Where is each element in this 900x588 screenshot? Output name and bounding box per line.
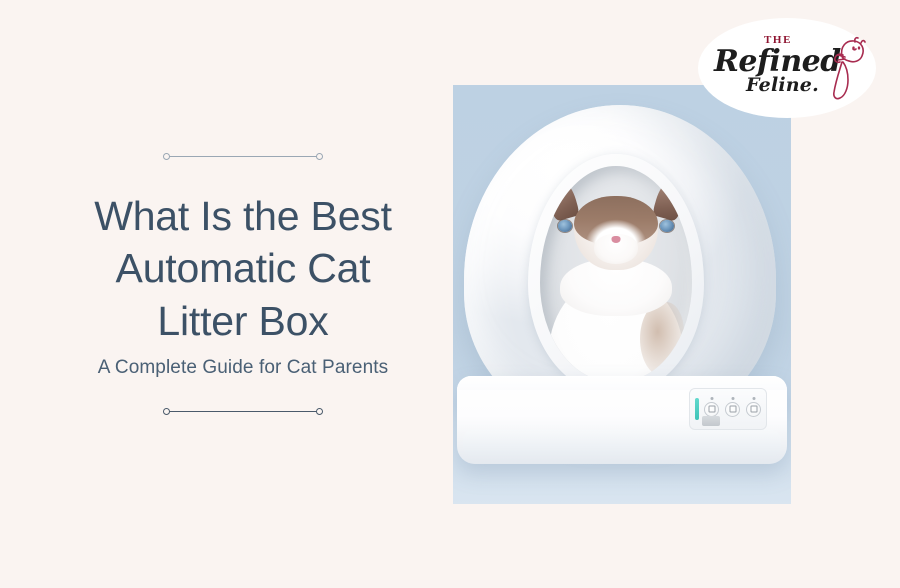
cat-silhouette-icon xyxy=(812,36,866,107)
litter-box-base xyxy=(457,376,787,464)
mode-button[interactable] xyxy=(725,402,740,417)
divider-rule xyxy=(169,411,317,412)
cat-illustration xyxy=(540,166,692,382)
panel-display xyxy=(702,416,720,426)
decorative-divider-top xyxy=(163,150,323,164)
power-button[interactable] xyxy=(704,402,719,417)
logo-feline-text: Feline. xyxy=(746,74,819,96)
logo-inner: THE Refined Feline. xyxy=(712,30,862,106)
control-panel[interactable] xyxy=(689,388,767,430)
litter-box-opening xyxy=(540,166,692,382)
cat-eye-right xyxy=(660,220,674,232)
control-panel-buttons xyxy=(704,402,761,417)
cat-body-shading xyxy=(640,302,684,376)
product-photo xyxy=(453,85,791,504)
status-indicator-light xyxy=(695,398,699,420)
hero-text-block: What Is the Best Automatic Cat Litter Bo… xyxy=(48,150,438,419)
page-title-line-2: Automatic Cat xyxy=(116,245,371,291)
cat-eye-left xyxy=(558,220,572,232)
divider-dot-right xyxy=(316,408,323,415)
mode-icon xyxy=(729,406,736,413)
page-title-line-1: What Is the Best xyxy=(94,193,392,239)
divider-dot-right xyxy=(316,153,323,160)
decorative-divider-bottom xyxy=(163,405,323,419)
page-title-line-3: Litter Box xyxy=(157,298,328,344)
power-icon xyxy=(708,406,715,413)
page-subtitle: A Complete Guide for Cat Parents xyxy=(98,357,388,379)
cat-nose xyxy=(612,236,621,243)
page-title: What Is the Best Automatic Cat Litter Bo… xyxy=(94,190,392,347)
clean-button[interactable] xyxy=(746,402,761,417)
brand-logo[interactable]: THE Refined Feline. xyxy=(698,18,876,118)
cat-ear-right xyxy=(652,182,686,222)
divider-rule xyxy=(169,156,317,157)
base-front-lip xyxy=(463,430,781,456)
clean-icon xyxy=(750,406,757,413)
